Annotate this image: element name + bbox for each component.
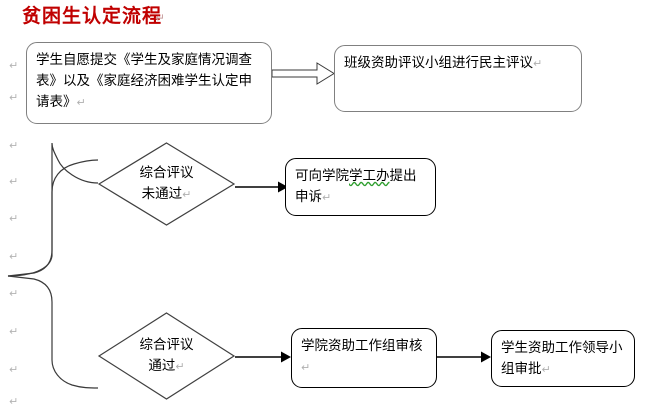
paragraph-mark: ↵ [9, 176, 18, 187]
node-decision-fail[interactable]: 综合评议 未通过↵ [98, 142, 235, 226]
edge-college-to-leader [437, 352, 491, 363]
paragraph-mark: ↵ [9, 288, 18, 299]
appeal-text-before: 可向学院 [295, 168, 349, 184]
edge-class-review-to-branch [8, 143, 98, 388]
paragraph-mark: ↵ [9, 364, 18, 375]
paragraph-mark: ↵ [9, 140, 18, 151]
title-pilcrow-mark: ↵ [155, 12, 165, 24]
node-decision-pass[interactable]: 综合评议 通过↵ [98, 312, 235, 400]
edge-pass-to-college [235, 352, 291, 363]
node-class-review[interactable]: 班级资助评议小组进行民主评议↵ [334, 45, 582, 112]
paragraph-mark: ↵ [9, 396, 18, 407]
node-appeal[interactable]: 可向学院学工办提出申诉↵ [285, 158, 436, 216]
node-college-review-label: 学院资助工作组审核↵ [301, 336, 429, 378]
appeal-text-misspelled: 学工办 [349, 168, 390, 184]
edge-branch-upper [8, 160, 98, 276]
paragraph-mark: ↵ [175, 360, 184, 373]
node-appeal-label: 可向学院学工办提出申诉↵ [295, 166, 428, 208]
node-class-review-label: 班级资助评议小组进行民主评议↵ [344, 53, 574, 74]
paragraph-mark: ↵ [9, 326, 18, 337]
node-decision-fail-label: 综合评议 未通过↵ [98, 163, 235, 205]
node-leader-approval[interactable]: 学生资助工作领导小组审批↵ [491, 330, 635, 387]
paragraph-mark: ↵ [9, 92, 18, 103]
edge-submit-to-class-review [272, 63, 334, 84]
paragraph-mark: ↵ [182, 188, 191, 201]
paragraph-mark: ↵ [9, 251, 18, 262]
node-submit-forms[interactable]: 学生自愿提交《学生及家庭情况调查表》以及《家庭经济困难学生认定申请表》↵ [26, 42, 272, 124]
paragraph-mark: ↵ [533, 57, 542, 70]
node-college-review[interactable]: 学院资助工作组审核↵ [291, 328, 437, 388]
page-title: 贫困生认定流程 [22, 7, 162, 26]
paragraph-mark: ↵ [9, 60, 18, 71]
document-canvas: 贫困生认定流程 ↵ ↵ ↵ ↵ ↵ ↵ ↵ ↵ ↵ ↵ ↵ [0, 0, 669, 411]
paragraph-mark: ↵ [9, 213, 18, 224]
paragraph-mark: ↵ [77, 96, 86, 109]
node-submit-forms-label: 学生自愿提交《学生及家庭情况调查表》以及《家庭经济困难学生认定申请表》↵ [36, 50, 264, 113]
paragraph-mark: ↵ [542, 363, 551, 376]
node-leader-approval-label: 学生资助工作领导小组审批↵ [501, 338, 627, 380]
paragraph-mark: ↵ [301, 361, 310, 374]
paragraph-mark: ↵ [322, 191, 331, 204]
edge-fail-to-appeal [235, 182, 288, 193]
node-decision-pass-label: 综合评议 通过↵ [98, 335, 235, 377]
